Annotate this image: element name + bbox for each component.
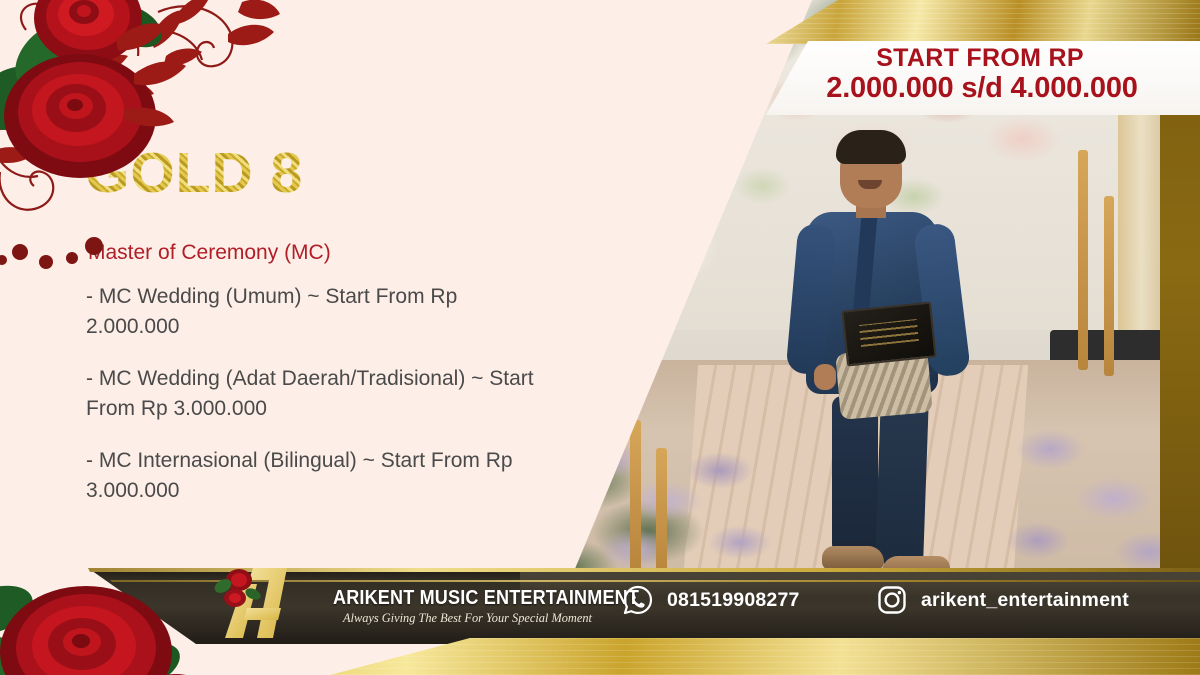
price-banner-line2: 2.000.000 s/d 4.000.000: [766, 72, 1198, 105]
award-plaque: [841, 301, 936, 366]
instagram-contact[interactable]: arikent_entertainment: [876, 584, 1129, 616]
instagram-handle: arikent_entertainment: [921, 589, 1129, 612]
whatsapp-contact[interactable]: 081519908277: [622, 584, 800, 616]
price-banner: START FROM RP 2.000.000 s/d 4.000.000: [766, 41, 1200, 115]
person-leg-right: [875, 395, 929, 565]
bottom-gold-strip: [0, 638, 1200, 675]
logo-monogram-a-icon: [213, 564, 331, 642]
service-subheading: Master of Ceremony (MC): [88, 241, 331, 265]
candle-stand: [1078, 150, 1088, 370]
person-hair: [836, 130, 906, 164]
person-shoe-left: [822, 546, 884, 570]
service-item: - MC Wedding (Adat Daerah/Tradisional) ~…: [86, 364, 538, 424]
service-item: - MC Wedding (Umum) ~ Start From Rp 2.00…: [86, 282, 538, 342]
service-list: - MC Wedding (Umum) ~ Start From Rp 2.00…: [86, 282, 538, 528]
brand-tagline: Always Giving The Best For Your Special …: [343, 610, 592, 626]
instagram-icon: [876, 584, 908, 616]
whatsapp-number: 081519908277: [667, 589, 800, 612]
mc-person: [778, 128, 968, 580]
person-leg-left: [832, 396, 878, 554]
whatsapp-icon: [622, 584, 654, 616]
brand-name: ARIKENT MUSIC ENTERTAINMENT: [333, 586, 639, 610]
poster-canvas: START FROM RP 2.000.000 s/d 4.000.000 GO…: [0, 0, 1200, 675]
price-banner-line1: START FROM RP: [766, 44, 1194, 73]
brand-logo: ARIKENT MUSIC ENTERTAINMENT Always Givin…: [205, 566, 605, 640]
candle-stand: [630, 420, 641, 570]
person-hand: [814, 364, 836, 390]
page-title: GOLD 8: [85, 140, 303, 206]
white-chair: [638, 210, 733, 340]
candle-stand: [1104, 196, 1114, 376]
service-item: - MC Internasional (Bilingual) ~ Start F…: [86, 446, 538, 506]
candle-stand: [656, 448, 667, 576]
